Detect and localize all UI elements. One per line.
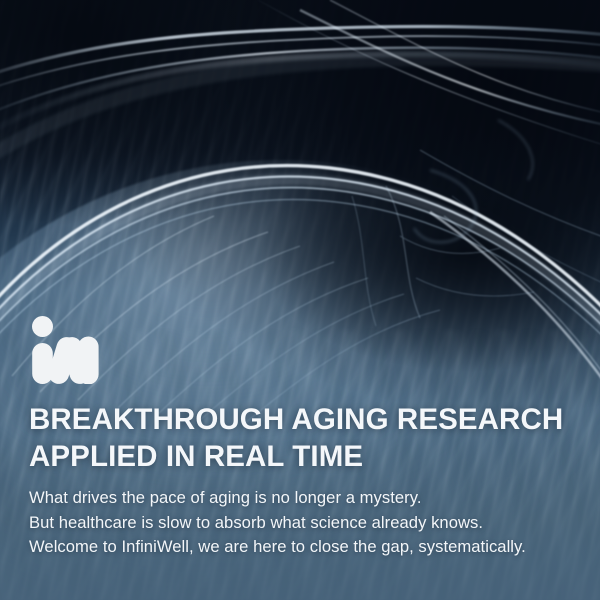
subcopy-line-2: But healthcare is slow to absorb what sc… — [29, 511, 585, 536]
banner-content: BREAKTHROUGH AGING RESEARCH APPLIED IN R… — [0, 0, 600, 600]
headline-line-2: APPLIED IN REAL TIME — [29, 438, 581, 475]
logo-i-dot — [32, 316, 53, 337]
logo-w-stroke-right — [78, 337, 99, 385]
page-title: BREAKTHROUGH AGING RESEARCH APPLIED IN R… — [29, 401, 581, 475]
subcopy-line-1: What drives the pace of aging is no long… — [29, 486, 585, 511]
subcopy-line-3: Welcome to InfiniWell, we are here to cl… — [29, 535, 585, 560]
headline-line-1: BREAKTHROUGH AGING RESEARCH — [29, 401, 581, 438]
infiniwell-iw-monogram-logo[interactable] — [29, 316, 99, 384]
subcopy-block: What drives the pace of aging is no long… — [29, 486, 585, 560]
hero-banner: BREAKTHROUGH AGING RESEARCH APPLIED IN R… — [0, 0, 600, 600]
